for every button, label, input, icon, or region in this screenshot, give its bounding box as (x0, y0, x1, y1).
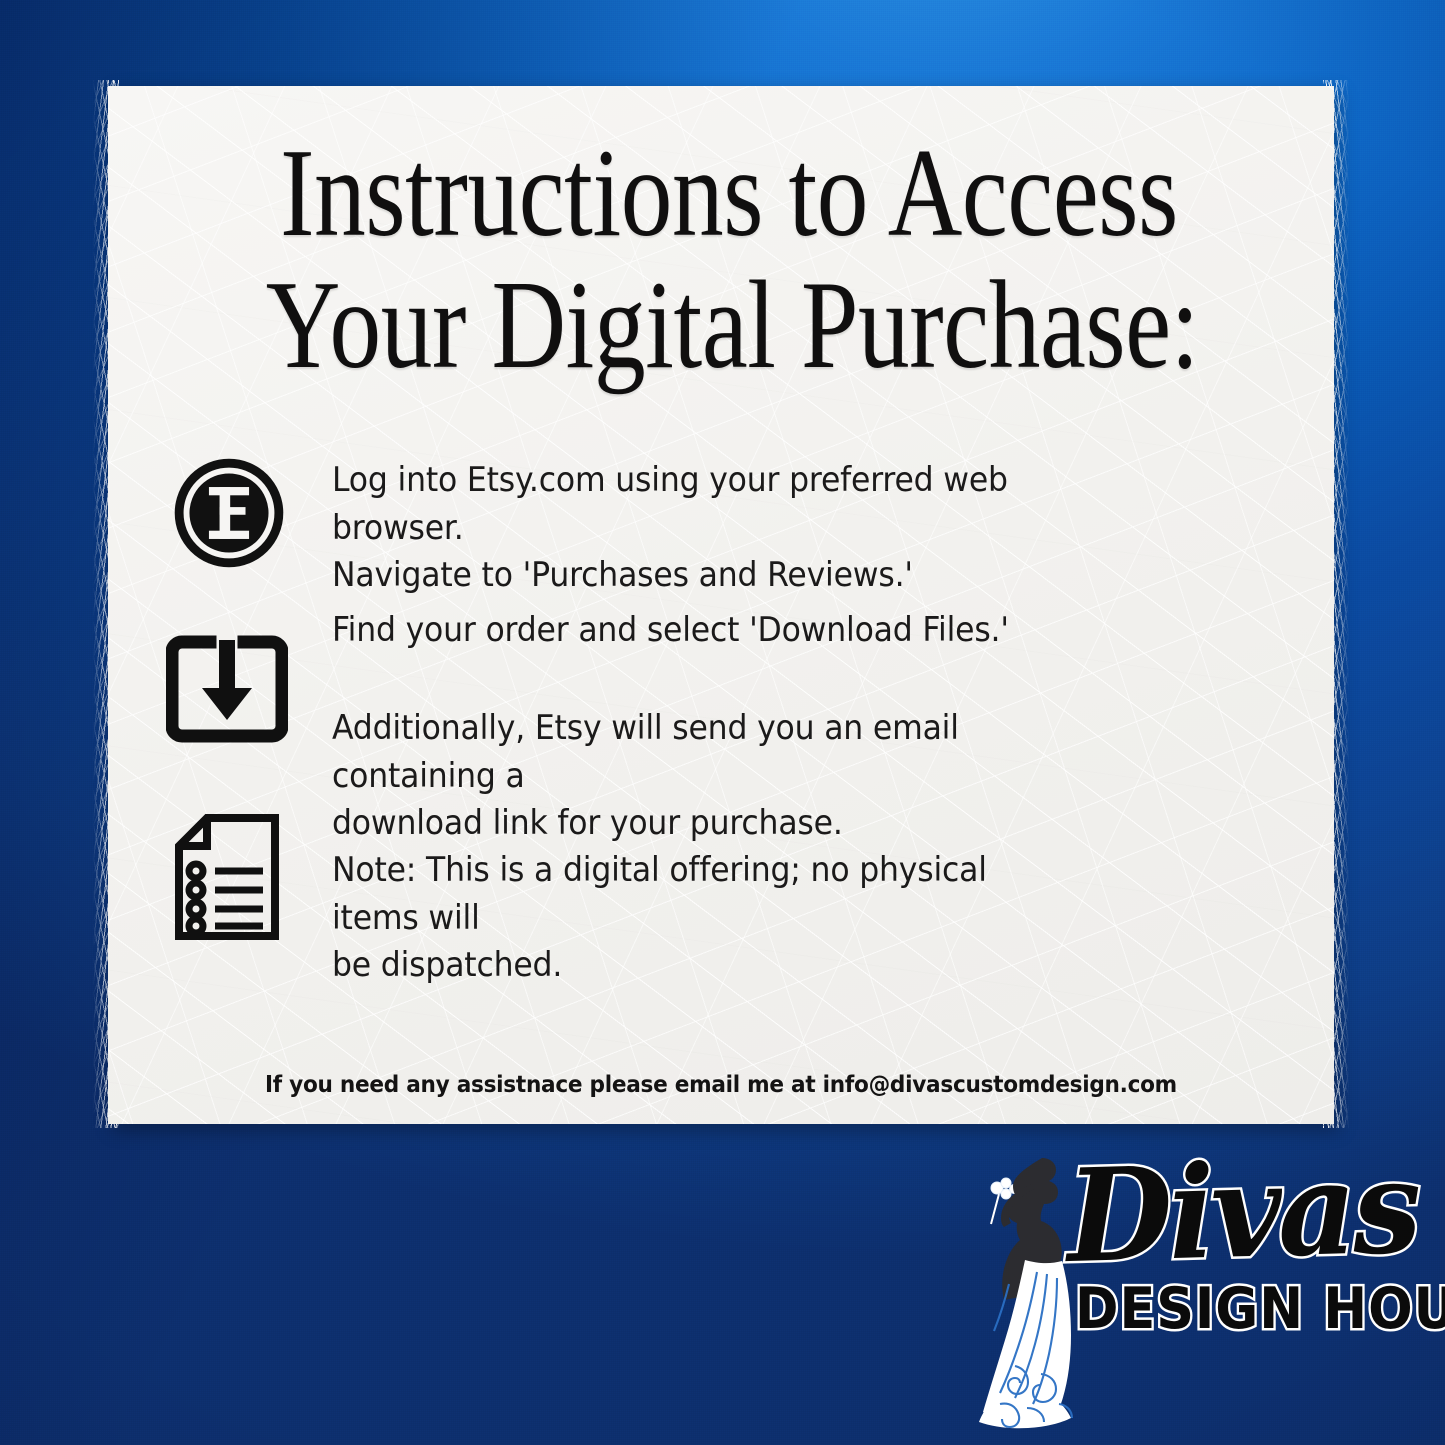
step-1-line-1: Log into Etsy.com using your preferred w… (332, 456, 1046, 551)
download-tray-icon (164, 626, 290, 752)
step-4-line-2: be dispatched. (332, 941, 1075, 989)
step-3-line-1: Additionally, Etsy will send you an emai… (332, 704, 1084, 799)
step-1-text: Log into Etsy.com using your preferred w… (332, 456, 1046, 599)
paper-surface: Instructions to Access Your Digital Purc… (108, 86, 1334, 1124)
brand-script-name: Divas (1065, 1132, 1419, 1292)
step-3-line-2: download link for your purchase. (332, 799, 1084, 847)
paper-card: Instructions to Access Your Digital Purc… (108, 86, 1334, 1124)
page-title: Instructions to Access Your Digital Purc… (164, 128, 1294, 393)
page-title-line-1: Instructions to Access (266, 128, 1193, 260)
step-4-text: Note: This is a digital offering; no phy… (332, 846, 1075, 989)
step-2-text: Find your order and select 'Download Fil… (332, 606, 1065, 654)
brand-logo: Divas DESIGN HOUSE (975, 1148, 1395, 1438)
support-contact-note: If you need any assistnace please email … (145, 1072, 1297, 1098)
step-4-line-1: Note: This is a digital offering; no phy… (332, 846, 1075, 941)
step-3-text: Additionally, Etsy will send you an emai… (332, 704, 1084, 847)
document-list-icon (164, 814, 290, 940)
page-title-line-2: Your Digital Purchase: (266, 260, 1193, 392)
step-2-line-1: Find your order and select 'Download Fil… (332, 606, 1065, 654)
poster-canvas: Instructions to Access Your Digital Purc… (0, 0, 1445, 1445)
brand-sub-name: DESIGN HOUSE (1075, 1276, 1445, 1342)
etsy-circle-e-icon (166, 450, 292, 576)
step-1-line-2: Navigate to 'Purchases and Reviews.' (332, 551, 1046, 599)
